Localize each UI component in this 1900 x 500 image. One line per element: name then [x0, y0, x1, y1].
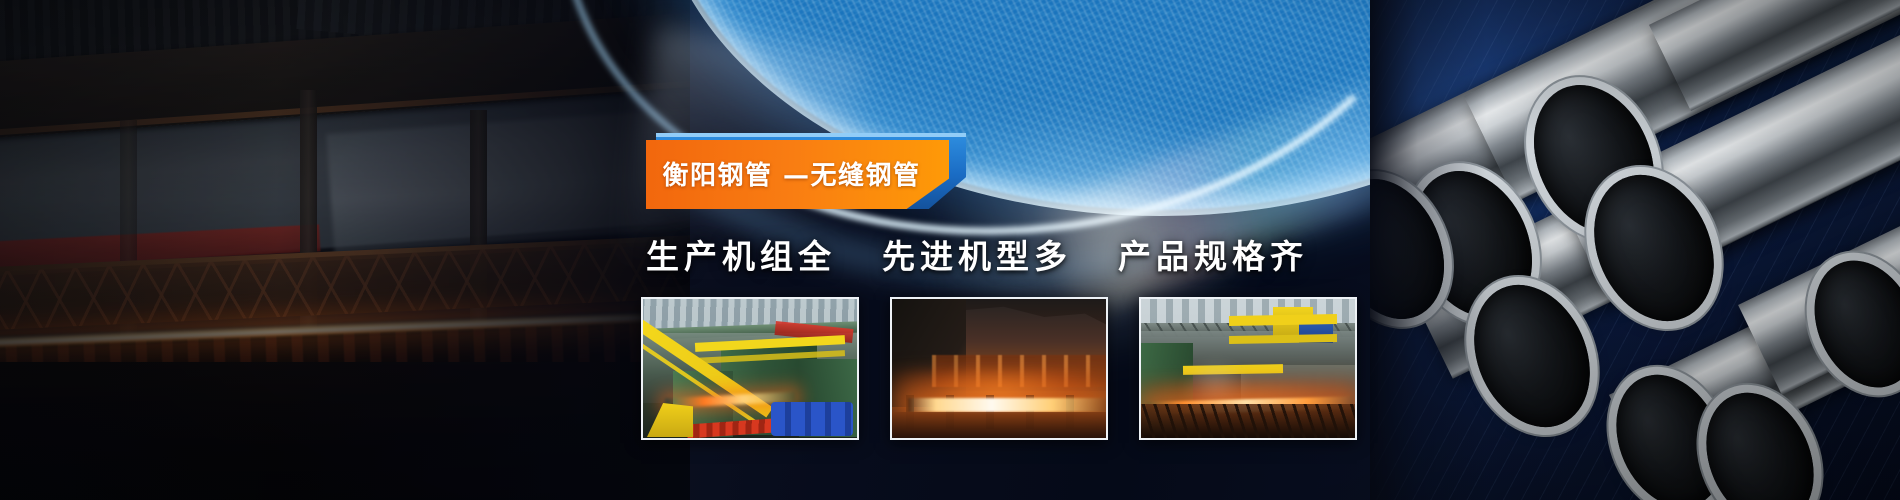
- thumb2-glowing-billet: [908, 398, 1108, 412]
- hero-banner: 衡阳钢管 —无缝钢管 生产机组全 先进机型多 产品规格齐: [0, 0, 1900, 500]
- product-tag-blue-highlight: [656, 133, 966, 137]
- headline-phrase-2: 先进机型多: [882, 230, 1072, 278]
- product-tag-label: 衡阳钢管 —无缝钢管: [662, 155, 932, 195]
- headline-phrase-1: 生产机组全: [646, 230, 836, 278]
- banner-content: 衡阳钢管 —无缝钢管 生产机组全 先进机型多 产品规格齐: [646, 0, 1406, 500]
- headline-phrase-3: 产品规格齐: [1118, 230, 1308, 278]
- thumbnail-factory-hot-line[interactable]: [1139, 297, 1357, 440]
- pipes-edge-shading: [1370, 0, 1900, 500]
- product-tag-body: 衡阳钢管 —无缝钢管: [646, 140, 949, 209]
- thumb1-blue-motors: [771, 402, 853, 436]
- thumb3-foreground-machinery: [1141, 404, 1355, 438]
- thumbnail-hot-billet-furnace[interactable]: [890, 297, 1108, 440]
- steel-pipes-photo: [1370, 0, 1900, 500]
- thumb2-floor: [892, 412, 1106, 438]
- thumbnail-row: [641, 297, 1357, 440]
- headline: 生产机组全 先进机型多 产品规格齐: [646, 230, 1308, 278]
- product-tag: 衡阳钢管 —无缝钢管: [646, 133, 966, 213]
- thumb1-yellow-cradle: [647, 403, 693, 437]
- thumb3-yellow-platform: [1229, 314, 1337, 326]
- thumbnail-rolling-mill-line[interactable]: [641, 297, 859, 440]
